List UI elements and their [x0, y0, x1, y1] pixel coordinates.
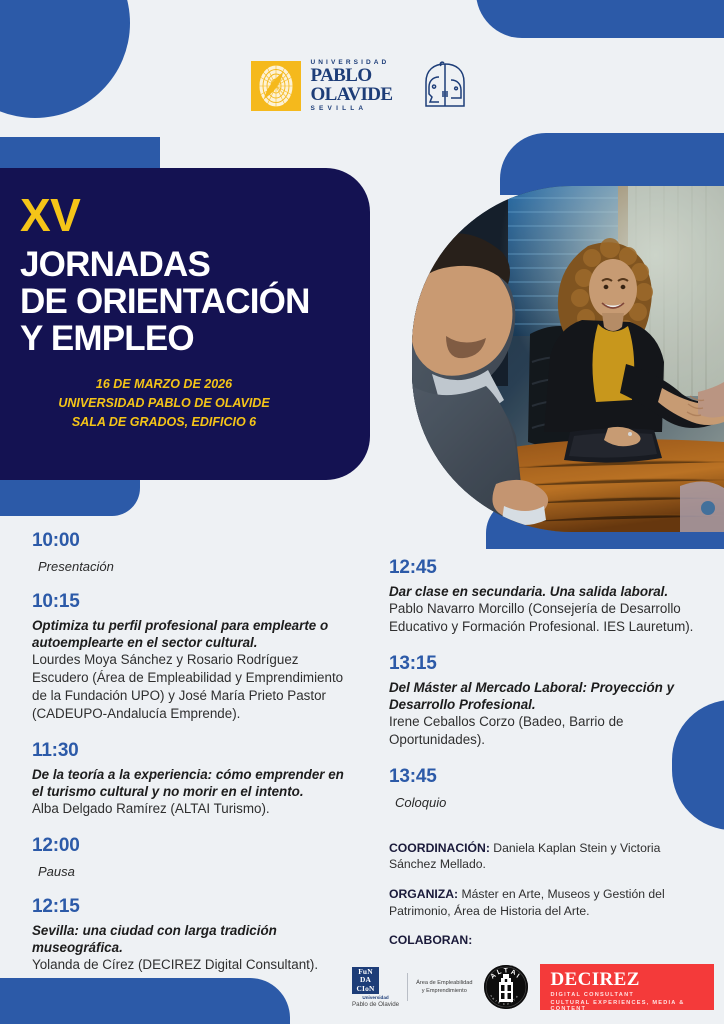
- schedule-talk-title: Dar clase en secundaria. Una salida labo…: [389, 583, 707, 600]
- svg-text:T: T: [504, 967, 509, 974]
- upo-logo: UNIVERSIDAD PABLO OLAVIDE SEVILLA: [251, 60, 392, 112]
- decirez-name: DECIREZ: [550, 970, 714, 989]
- organizer-line: ORGANIZA: Máster en Arte, Museos y Gesti…: [389, 886, 707, 919]
- schedule-plain-label: Coloquio: [389, 795, 707, 810]
- organizer-label: ORGANIZA:: [389, 887, 458, 901]
- area-line-1: Área de Empleabilidad: [416, 979, 472, 987]
- schedule-speaker: Irene Ceballos Corzo (Badeo, Barrio de O…: [389, 713, 707, 749]
- event-room: SALA DE GRADOS, EDIFICIO 6: [20, 413, 308, 432]
- schedule-time: 10:00: [32, 530, 352, 552]
- schedule-time: 13:45: [389, 766, 707, 788]
- schedule-column-left: 10:00 Presentación 10:15 Optimiza tu per…: [32, 530, 352, 974]
- header-logo-row: UNIVERSIDAD PABLO OLAVIDE SEVILLA: [0, 58, 724, 114]
- schedule-item: 10:15 Optimiza tu perfil profesional par…: [32, 591, 352, 723]
- schedule-speaker: Lourdes Moya Sánchez y Rosario Rodríguez…: [32, 651, 352, 723]
- schedule-item: 12:15 Sevilla: una ciudad con larga trad…: [32, 896, 352, 974]
- area-line-2: y Emprendimiento: [416, 987, 472, 995]
- decor-bar-top-right: [476, 0, 724, 38]
- schedule-time: 12:15: [32, 896, 352, 918]
- coordination-line: COORDINACIÓN: Daniela Kaplan Stein y Vic…: [389, 840, 707, 873]
- schedule-speaker: Yolanda de Círez (DECIREZ Digital Consul…: [32, 956, 352, 974]
- upo-olavide-text: OLAVIDE: [310, 86, 392, 104]
- schedule-talk-title: Sevilla: una ciudad con larga tradición …: [32, 922, 352, 956]
- schedule-item: 12:45 Dar clase en secundaria. Una salid…: [389, 557, 707, 636]
- schedule-item: 13:15 Del Máster al Mercado Laboral: Pro…: [389, 653, 707, 749]
- title-line-1: JORNADAS: [20, 246, 344, 283]
- decor-bar-bottom-left: [0, 978, 290, 1024]
- fundacion-box-icon: FuN DA CIoN: [352, 967, 379, 994]
- schedule-item: 10:00 Presentación: [32, 530, 352, 574]
- poster-root: UNIVERSIDAD PABLO OLAVIDE SEVILLA: [0, 0, 724, 1024]
- schedule-plain-label: Presentación: [32, 559, 352, 574]
- collaborators-label: COLABORAN:: [389, 933, 472, 947]
- logo-divider: [407, 973, 408, 1001]
- upo-sevilla-text: SEVILLA: [310, 106, 392, 113]
- schedule-time: 11:30: [32, 740, 352, 762]
- decirez-logo: DECIREZ DIGITAL CONSULTANT CULTURAL EXPE…: [540, 964, 714, 1010]
- page-title: JORNADAS DE ORIENTACIÓN Y EMPLEO: [20, 246, 344, 357]
- schedule-time: 10:15: [32, 591, 352, 613]
- fundacion-mark: FuN DA CIoN Universidad Pablo de Olavide: [352, 967, 399, 1008]
- edition-number: XV: [20, 192, 344, 238]
- schedule-item: 12:00 Pausa: [32, 835, 352, 879]
- schedule-column-right: 12:45 Dar clase en secundaria. Una salid…: [389, 557, 707, 962]
- decirez-tagline-1: DIGITAL CONSULTANT: [550, 992, 714, 998]
- upo-sunburst-icon: [251, 61, 301, 111]
- event-date: 16 DE MARZO DE 2026: [20, 375, 308, 394]
- fundacion-area-text: Área de Empleabilidad y Emprendimiento: [416, 979, 472, 996]
- event-venue: UNIVERSIDAD PABLO DE OLAVIDE: [20, 394, 308, 413]
- event-details: 16 DE MARZO DE 2026 UNIVERSIDAD PABLO DE…: [20, 375, 344, 431]
- schedule-speaker: Pablo Navarro Morcillo (Consejería de De…: [389, 600, 707, 636]
- fundacion-upo-logo: FuN DA CIoN Universidad Pablo de Olavide…: [352, 967, 472, 1008]
- schedule-time: 12:45: [389, 557, 707, 579]
- schedule-item: 11:30 De la teoría a la experiencia: cóm…: [32, 740, 352, 818]
- title-line-2: DE ORIENTACIÓN: [20, 283, 344, 320]
- decirez-tagline-2: CULTURAL EXPERIENCES, MEDIA & CONTENT: [550, 1000, 714, 1012]
- upo-pablo-text: PABLO: [310, 67, 392, 85]
- fundacion-sub-2: Pablo de Olavide: [352, 1001, 399, 1008]
- sunburst-icon: [253, 63, 299, 109]
- fundacion-sub-1: Universidad: [352, 995, 399, 1000]
- upo-wordmark: UNIVERSIDAD PABLO OLAVIDE SEVILLA: [310, 60, 392, 112]
- two-faces-icon: [417, 58, 473, 114]
- title-panel: XV JORNADAS DE ORIENTACIÓN Y EMPLEO 16 D…: [0, 168, 370, 480]
- collaborators-line: COLABORAN:: [389, 932, 707, 949]
- schedule-talk-title: De la teoría a la experiencia: cómo empr…: [32, 766, 352, 800]
- footer-logo-row: FuN DA CIoN Universidad Pablo de Olavide…: [352, 960, 722, 1014]
- schedule-talk-title: Optimiza tu perfil profesional para empl…: [32, 617, 352, 651]
- altai-logo: A L T A I A R T E C U L T P: [484, 965, 528, 1009]
- schedule-item: 13:45 Coloquio: [389, 766, 707, 810]
- fundacion-line-3: CIoN: [352, 985, 379, 994]
- schedule-speaker: Alba Delgado Ramírez (ALTAI Turismo).: [32, 800, 352, 818]
- schedule-talk-title: Del Máster al Mercado Laboral: Proyecció…: [389, 679, 707, 713]
- altai-tower-icon: A L T A I A R T E C U L T P: [484, 965, 528, 1009]
- hero-photo: [412, 186, 724, 532]
- schedule-plain-label: Pausa: [32, 864, 352, 879]
- interview-handshake-image: [412, 186, 724, 532]
- schedule-time: 12:00: [32, 835, 352, 857]
- decor-bar-left-upper: [0, 137, 160, 169]
- title-line-3: Y EMPLEO: [20, 320, 344, 357]
- credits-block: COORDINACIÓN: Daniela Kaplan Stein y Vic…: [389, 840, 707, 949]
- coordination-label: COORDINACIÓN:: [389, 841, 490, 855]
- schedule-time: 13:15: [389, 653, 707, 675]
